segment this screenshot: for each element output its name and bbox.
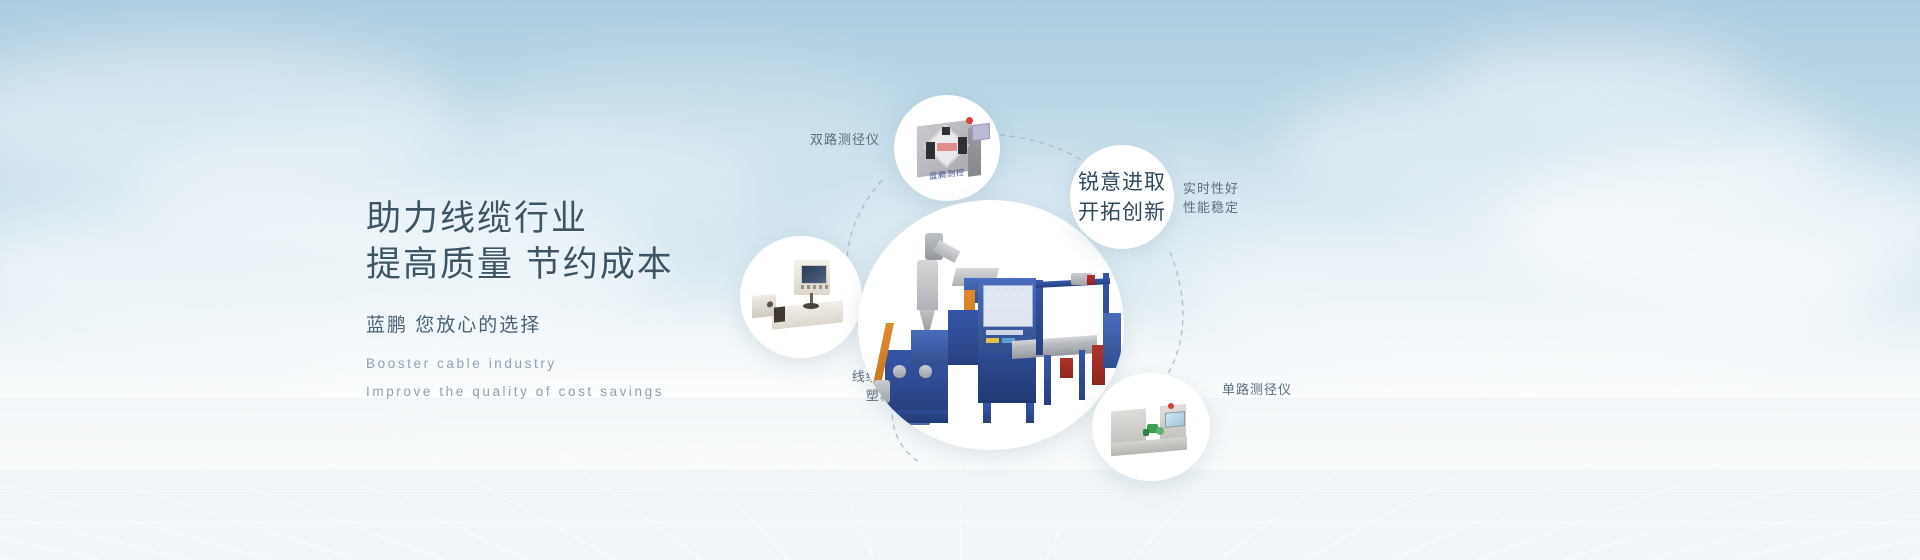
single-gauge-illustration [1092, 373, 1210, 481]
label-feature-line-2: 性能稳定 [1183, 198, 1239, 217]
slogan-line-1: 锐意进取 [1078, 168, 1166, 198]
product-bubble-single-gauge[interactable] [1092, 373, 1210, 481]
production-line-illustration [858, 200, 1124, 450]
label-feature-line-1: 实时性好 [1183, 179, 1239, 198]
product-composition: 蓝鹏测控 双路测径仪 适用行业 线缆 金属拉丝 塑料 橡胶 [700, 40, 1920, 530]
hero-banner: 助力线缆行业 提高质量 节约成本 蓝鹏 您放心的选择 Booster cable… [0, 0, 1920, 560]
cloud-decoration [0, 40, 460, 190]
product-bubble-production-line[interactable] [858, 200, 1124, 450]
product-bubble-dual-gauge[interactable]: 蓝鹏测控 [894, 95, 1000, 201]
product-bubble-controller[interactable] [740, 236, 862, 358]
label-single-gauge: 单路测径仪 [1222, 380, 1292, 399]
slogan-line-2: 开拓创新 [1078, 198, 1166, 228]
label-dual-gauge: 双路测径仪 [700, 130, 880, 149]
controller-illustration [740, 236, 862, 358]
dual-gauge-illustration: 蓝鹏测控 [894, 95, 1000, 201]
